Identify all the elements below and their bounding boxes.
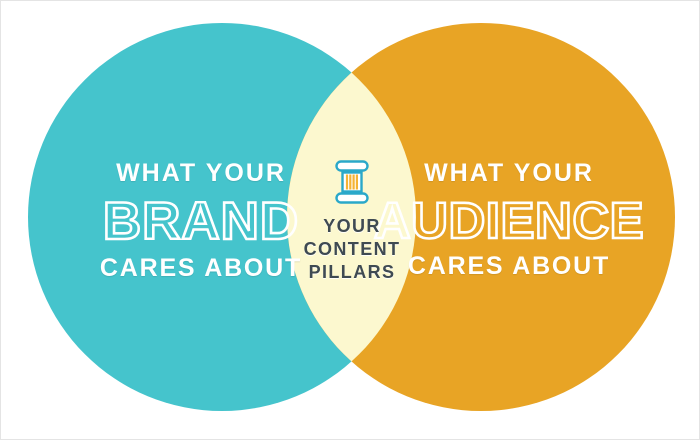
intersection-line-2: CONTENT — [282, 238, 422, 261]
intersection-content-block: YOUR CONTENT PILLARS — [282, 159, 422, 284]
intersection-line-3: PILLARS — [282, 261, 422, 284]
intersection-line-1: YOUR — [282, 215, 422, 238]
venn-diagram-canvas: WHAT YOUR BRAND CARES ABOUT WHAT YOUR AU… — [0, 0, 700, 440]
pillar-icon — [332, 159, 372, 205]
